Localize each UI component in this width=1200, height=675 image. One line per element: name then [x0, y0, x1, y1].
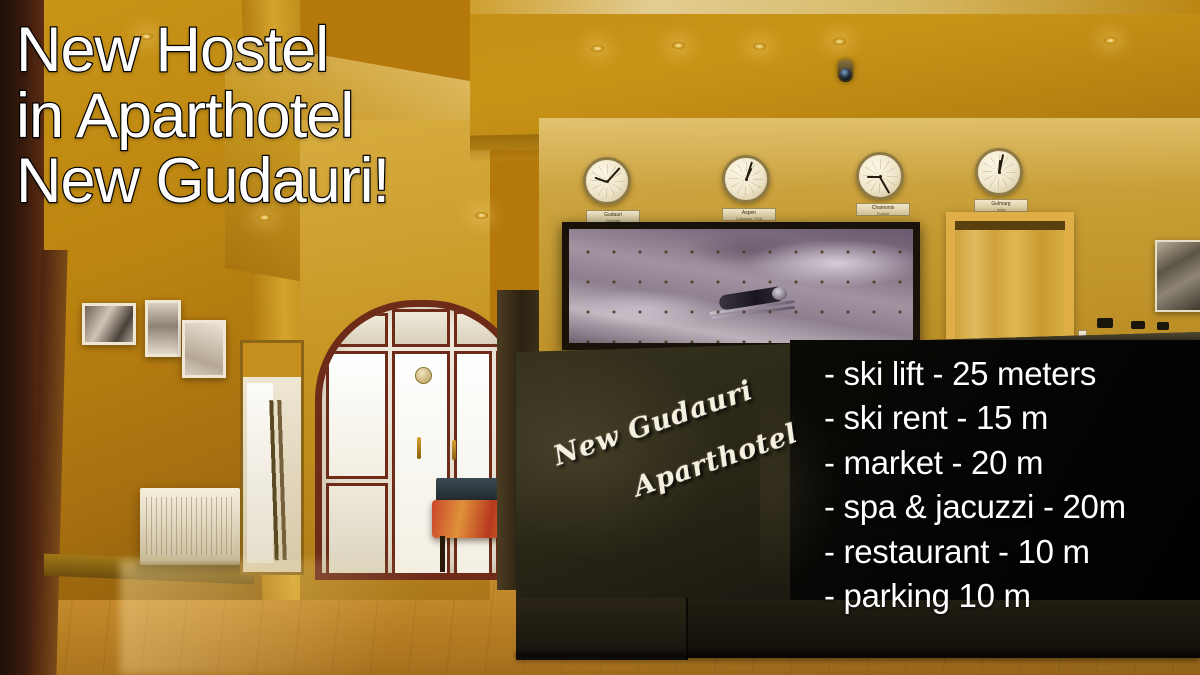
- vintage-photo: [1155, 240, 1200, 312]
- counter-plinth: [516, 598, 688, 660]
- clock-label: Aspen Colorado, USA: [722, 208, 776, 221]
- wall-picture: [182, 320, 226, 378]
- counter-object: [1157, 322, 1169, 330]
- counter-floor-shadow: [516, 652, 1200, 664]
- ceiling-spotlight: [475, 212, 488, 219]
- clock-label: Chamonix France: [856, 203, 910, 216]
- wall-picture: [145, 300, 181, 357]
- ceiling-spotlight: [833, 38, 846, 45]
- amenity-item: - spa & jacuzzi - 20m: [824, 485, 1126, 529]
- vintage-photo-image: [1157, 242, 1200, 310]
- wall-picture: [82, 303, 136, 345]
- door-handle[interactable]: [417, 437, 421, 459]
- door-slab: [955, 221, 1065, 351]
- wall-clock: [722, 155, 770, 203]
- ceiling-top-edge: [470, 0, 1200, 14]
- amenity-item: - ski rent - 15 m: [824, 396, 1126, 440]
- floor-reflection: [120, 560, 550, 675]
- headline-line-1: New Hostel: [16, 18, 389, 84]
- ceiling-spotlight: [672, 42, 685, 49]
- ceiling-spotlight: [753, 43, 766, 50]
- wall-clock: [856, 152, 904, 200]
- wall-clock: [975, 148, 1023, 196]
- clock-label: Gulmarg India: [974, 199, 1028, 212]
- clock-region: France: [857, 211, 909, 216]
- transom-pane: [326, 313, 388, 347]
- clock-center: [606, 180, 609, 183]
- counter-object: [1097, 318, 1113, 328]
- security-camera-icon: [838, 60, 853, 82]
- door-handle[interactable]: [452, 440, 456, 460]
- amenity-item: - restaurant - 10 m: [824, 530, 1126, 574]
- clock-region: Colorado, USA: [723, 216, 775, 221]
- clock-center: [879, 175, 882, 178]
- clock-center: [998, 171, 1001, 174]
- radiator-fins: [146, 497, 234, 555]
- door-top-shadow: [955, 221, 1065, 230]
- amenity-item: - parking 10 m: [824, 574, 1126, 618]
- transom-pane: [392, 309, 450, 347]
- photo-stud-pattern: [569, 229, 913, 343]
- radiator: [140, 488, 240, 565]
- counter-object: [1131, 321, 1145, 329]
- picture-image: [148, 303, 178, 354]
- picture-image: [185, 323, 223, 375]
- amenity-item: - ski lift - 25 meters: [824, 352, 1126, 396]
- ceiling-spotlight: [1104, 37, 1117, 44]
- framed-ski-photo: [562, 222, 920, 350]
- headline-overlay: New Hostel in Aparthotel New Gudauri!: [16, 18, 389, 215]
- headline-line-2: in Aparthotel: [16, 84, 389, 150]
- amenity-item: - market - 20 m: [824, 441, 1126, 485]
- ceiling-spotlight: [591, 45, 604, 52]
- screenshot-canvas: Gudauri Georgia Aspen Colorado, USA Cham…: [0, 0, 1200, 675]
- picture-image: [85, 306, 133, 342]
- amenities-list: - ski lift - 25 meters - ski rent - 15 m…: [824, 352, 1126, 618]
- wall-clock: [583, 157, 631, 205]
- hallway-clock-icon: [415, 367, 432, 384]
- glass-pane: [326, 351, 388, 479]
- headline-line-3: New Gudauri!: [16, 149, 389, 215]
- clock-center: [745, 178, 748, 181]
